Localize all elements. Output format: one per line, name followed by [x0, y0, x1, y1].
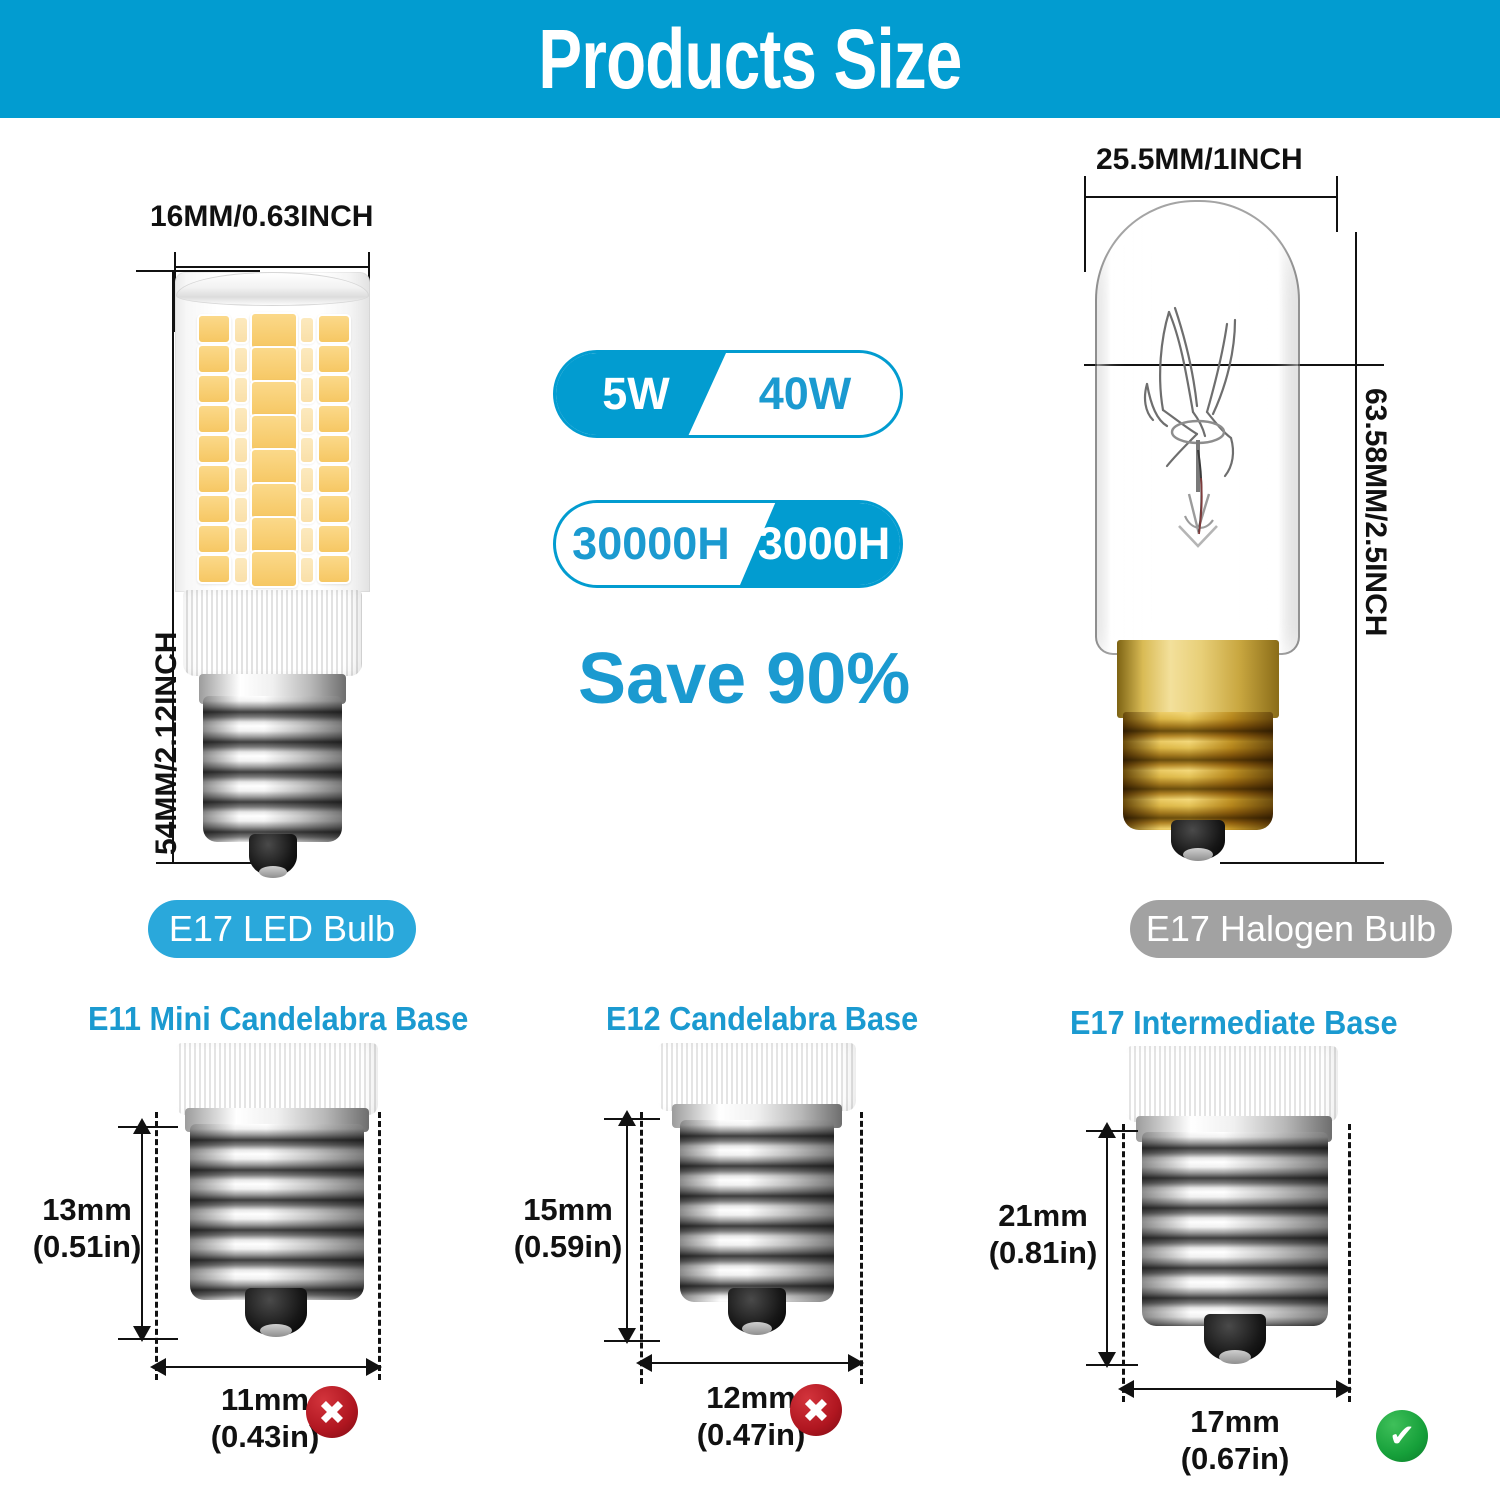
led-smd-chip [233, 346, 249, 374]
wattage-badge: 5W 40W [553, 350, 903, 438]
lifespan-badge: 30000H 3000H [553, 500, 903, 588]
halogen-brass-base [1117, 640, 1279, 718]
led-smd-chip [317, 404, 351, 434]
led-contact-dot [259, 866, 287, 878]
lifespan-halogen-label: 3000H [748, 503, 900, 585]
e11-width-arrow-right [366, 1358, 382, 1376]
save-percentage-text: Save 90% [578, 638, 910, 720]
e17-collar [1126, 1046, 1338, 1122]
halogen-screw-threads [1123, 712, 1273, 830]
e11-incompatible-icon: ✖ [306, 1386, 358, 1438]
led-smd-chip [299, 406, 315, 434]
e17-screw-threads [1142, 1132, 1328, 1326]
e17-width-arrow-left [1118, 1380, 1134, 1398]
e17-height-tick-top [1086, 1130, 1138, 1132]
led-smd-chip [197, 524, 231, 554]
e12-width-rule [646, 1362, 854, 1364]
led-smd-chip [250, 482, 298, 520]
led-screw-threads [203, 696, 342, 842]
led-smd-chip [197, 344, 231, 374]
led-smd-chip [299, 346, 315, 374]
e17-height-in: (0.81in) [982, 1235, 1104, 1272]
led-white-collar [183, 590, 362, 676]
e11-height-tick-bottom [118, 1338, 178, 1340]
e12-height-dim: 15mm (0.59in) [508, 1192, 628, 1265]
led-smd-chip [250, 380, 298, 418]
led-smd-chip [299, 496, 315, 524]
cross-icon: ✖ [802, 1391, 830, 1430]
e12-collar [658, 1043, 856, 1111]
infographic-root: Products Size 16MM/0.63INCH 54MM/2.12INC… [0, 0, 1500, 1500]
led-smd-chip [317, 314, 351, 344]
cross-icon: ✖ [318, 1393, 346, 1432]
e11-collar [176, 1043, 378, 1115]
e17-width-rule [1128, 1388, 1342, 1390]
halogen-width-label: 25.5MM/1INCH [1096, 143, 1303, 177]
e12-guide-left [640, 1112, 643, 1384]
base-heading-e11: E11 Mini Candelabra Base [88, 1000, 468, 1038]
led-smd-chip [233, 376, 249, 404]
halogen-bulb-name-pill: E17 Halogen Bulb [1130, 900, 1452, 958]
e17-height-rule [1106, 1134, 1108, 1356]
led-smd-chip [233, 406, 249, 434]
e17-width-in: (0.67in) [1140, 1441, 1330, 1478]
wattage-halogen-label: 40W [710, 353, 900, 435]
e12-width-arrow-right [848, 1354, 864, 1372]
e11-height-tick-top [118, 1126, 178, 1128]
led-smd-chip [250, 448, 298, 486]
e11-contact-dot [260, 1324, 292, 1337]
led-smd-chip [233, 496, 249, 524]
halogen-filament [1123, 280, 1273, 610]
led-smd-chip [250, 312, 298, 350]
e12-width-arrow-left [636, 1354, 652, 1372]
led-smd-chip [233, 526, 249, 554]
halogen-width-tick-right [1336, 176, 1338, 232]
e11-width-arrow-left [150, 1358, 166, 1376]
led-smd-chip [197, 374, 231, 404]
led-smd-chip [317, 494, 351, 524]
e12-height-tick-top [604, 1118, 660, 1120]
e17-guide-left [1122, 1124, 1125, 1402]
led-smd-chip [233, 556, 249, 584]
led-smd-chip [299, 436, 315, 464]
e12-height-tick-bottom [604, 1340, 660, 1342]
header-banner: Products Size [0, 0, 1500, 118]
page-title: Products Size [165, 0, 1335, 118]
led-smd-chip [250, 516, 298, 554]
led-smd-chip [250, 414, 298, 452]
halogen-width-rule [1084, 196, 1338, 198]
led-smd-chip [233, 316, 249, 344]
e17-width-dim: 17mm (0.67in) [1140, 1404, 1330, 1477]
e17-height-dim: 21mm (0.81in) [982, 1198, 1104, 1271]
halogen-contact-dot [1183, 848, 1213, 861]
halogen-bulb-name-text: E17 Halogen Bulb [1146, 908, 1436, 950]
e17-width-arrow-right [1336, 1380, 1352, 1398]
led-bulb-image [175, 272, 370, 592]
halogen-height-label: 63.58MM/2.5INCH [1358, 388, 1392, 636]
led-smd-chip [197, 314, 231, 344]
led-smd-chip [299, 316, 315, 344]
led-smd-chip [197, 464, 231, 494]
e12-guide-right [860, 1112, 863, 1384]
e11-width-rule [160, 1366, 372, 1368]
base-heading-e17: E17 Intermediate Base [1070, 1004, 1398, 1042]
led-smd-chip [299, 466, 315, 494]
wattage-led-label: 5W [556, 353, 716, 435]
e17-guide-right [1348, 1124, 1351, 1402]
e11-guide-right [378, 1112, 381, 1380]
base-heading-e12: E12 Candelabra Base [606, 1000, 918, 1038]
e17-contact-dot [1219, 1350, 1251, 1364]
led-smd-chip [299, 556, 315, 584]
e11-height-in: (0.51in) [28, 1229, 146, 1266]
halogen-bulb-image [1095, 200, 1300, 865]
e11-height-dim: 13mm (0.51in) [28, 1192, 146, 1265]
led-smd-chip [250, 346, 298, 384]
led-width-label: 16MM/0.63INCH [150, 200, 373, 234]
led-smd-chip [250, 550, 298, 588]
e12-incompatible-icon: ✖ [790, 1384, 842, 1436]
led-smd-chip [197, 434, 231, 464]
led-smd-chip [197, 554, 231, 584]
e11-screw-threads [190, 1124, 364, 1300]
e17-width-mm: 17mm [1140, 1404, 1330, 1441]
e12-height-mm: 15mm [508, 1192, 628, 1229]
led-smd-chip [317, 434, 351, 464]
e17-height-tick-bottom [1086, 1364, 1138, 1366]
e12-contact-dot [742, 1322, 772, 1335]
e12-screw-threads [680, 1120, 834, 1302]
led-smd-chip [197, 494, 231, 524]
led-smd-chip [233, 436, 249, 464]
led-smd-chip [317, 464, 351, 494]
halogen-width-tick-left [1084, 176, 1086, 272]
led-smd-chip [233, 466, 249, 494]
led-smd-chip [317, 374, 351, 404]
led-smd-chip [317, 524, 351, 554]
led-smd-chip [197, 404, 231, 434]
e12-height-in: (0.59in) [508, 1229, 628, 1266]
e11-height-mm: 13mm [28, 1192, 146, 1229]
led-smd-chip [317, 344, 351, 374]
e17-compatible-icon: ✔ [1376, 1410, 1428, 1462]
led-smd-chip [317, 554, 351, 584]
led-height-label: 54MM/2.12INCH [150, 632, 184, 855]
check-icon: ✔ [1389, 1418, 1415, 1454]
led-width-rule [174, 266, 370, 268]
lifespan-led-label: 30000H [556, 503, 746, 585]
led-bulb-name-pill: E17 LED Bulb [148, 900, 416, 958]
led-smd-chip [299, 526, 315, 554]
led-bulb-name-text: E17 LED Bulb [169, 908, 395, 950]
halogen-height-rule [1355, 232, 1357, 864]
e17-height-mm: 21mm [982, 1198, 1104, 1235]
led-smd-chip [299, 376, 315, 404]
